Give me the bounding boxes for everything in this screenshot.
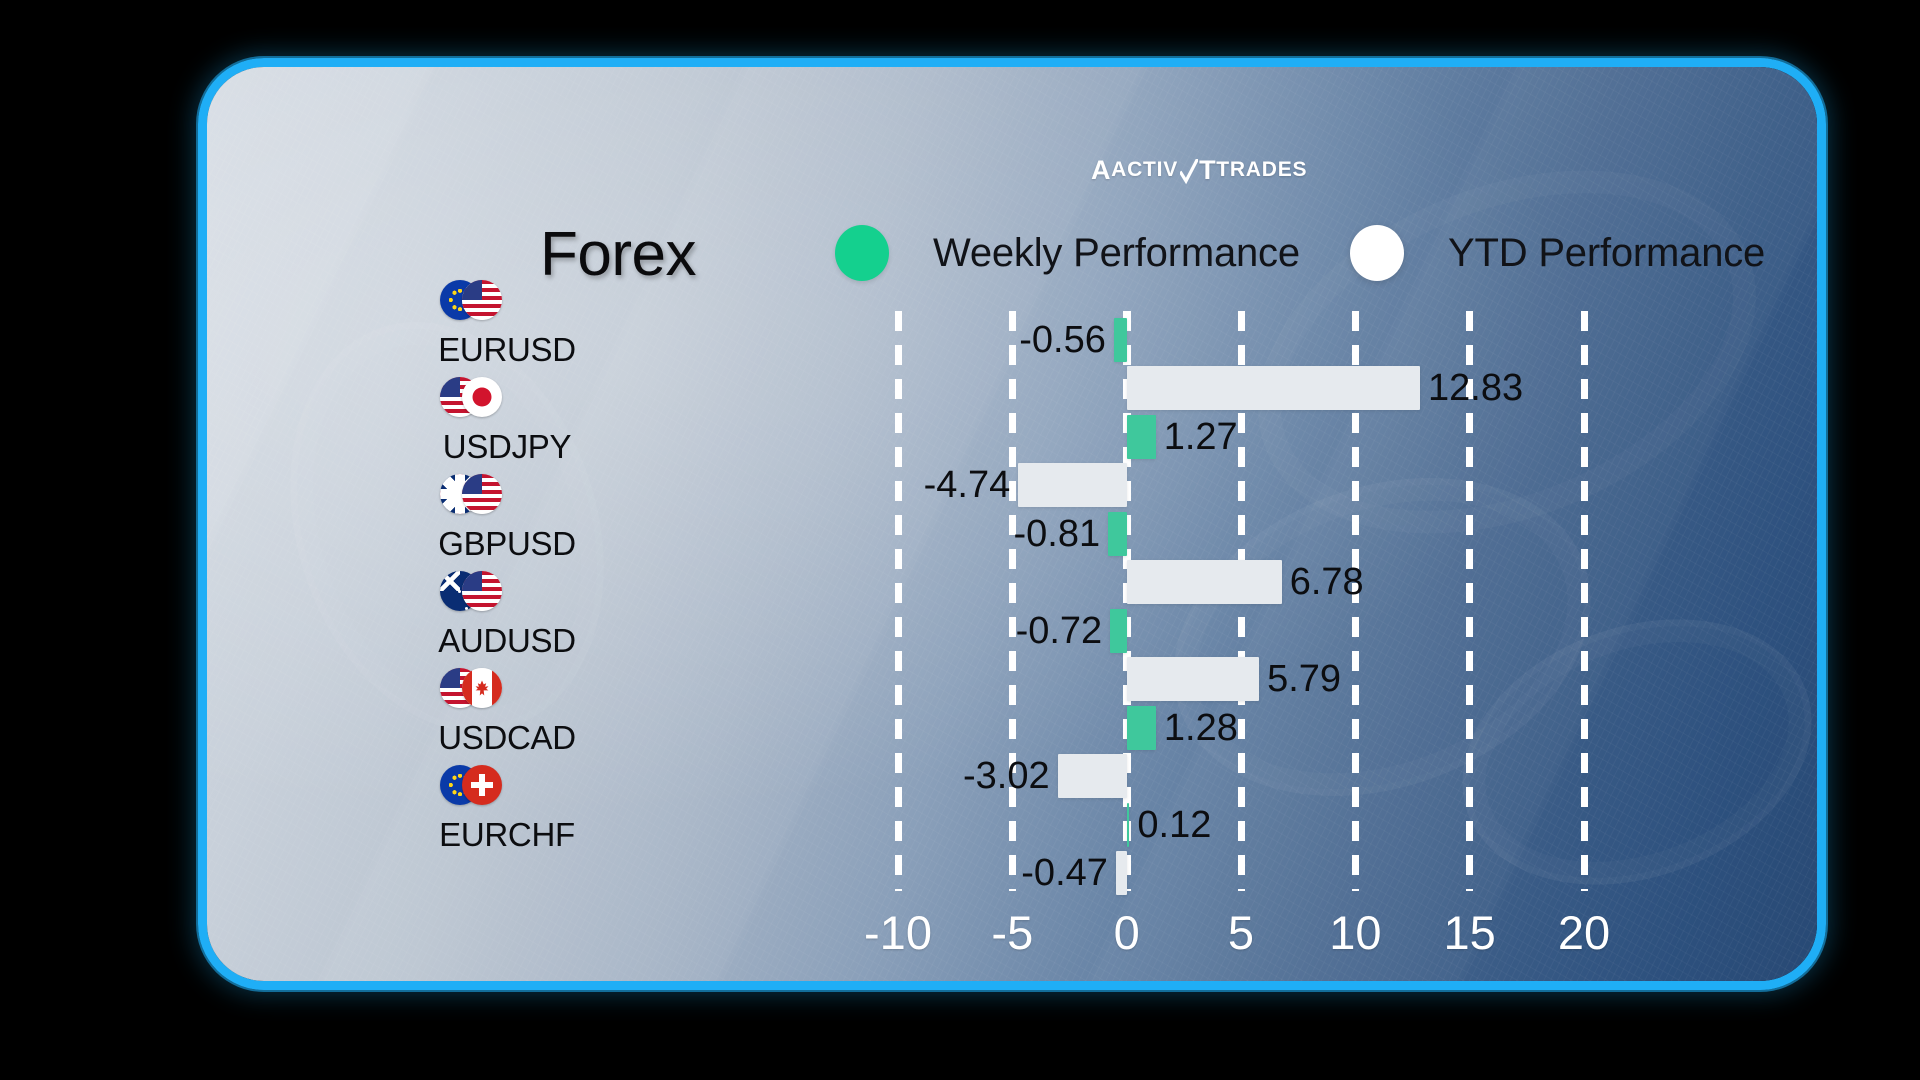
- bar-value-usdcad-weekly: 1.28: [1164, 706, 1238, 750]
- currency-flag-pair: [392, 571, 622, 615]
- currency-flag-pair: [392, 377, 622, 421]
- gridline--10: [895, 311, 902, 891]
- screenshot-root: AActiv TTrades Forex Weekly Performance …: [0, 0, 1920, 1080]
- currency-flag-pair: [392, 280, 622, 324]
- x-tick-15: 15: [1444, 905, 1496, 960]
- us-flag-icon: [462, 474, 502, 514]
- us-flag-icon: [462, 280, 502, 320]
- bar-eurusd-ytd: [1127, 366, 1420, 410]
- x-tick--10: -10: [864, 905, 932, 960]
- x-tick-5: 5: [1228, 905, 1254, 960]
- x-tick-20: 20: [1558, 905, 1610, 960]
- category-label-audusd: AUDUSD: [392, 571, 622, 660]
- bar-gbpusd-weekly: [1108, 512, 1127, 556]
- bar-eurusd-weekly: [1114, 318, 1127, 362]
- x-axis-title: % Performance: [897, 979, 1173, 990]
- gridline--5: [1009, 311, 1016, 891]
- category-label-eurusd: EURUSD: [392, 280, 622, 369]
- bar-value-eurchf-ytd: -0.47: [1021, 851, 1108, 895]
- category-label-usdcad: USDCAD: [392, 668, 622, 757]
- bar-value-eurchf-weekly: 0.12: [1137, 803, 1211, 847]
- category-name: EURUSD: [392, 331, 622, 369]
- category-label-usdjpy: USDJPY: [392, 377, 622, 466]
- category-name: USDJPY: [392, 428, 622, 466]
- bar-value-gbpusd-ytd: 6.78: [1290, 560, 1364, 604]
- bar-chart-plot: -10-505101520 EURUSDUSDJPYGBPUSDAUDUSDUS…: [207, 67, 1826, 990]
- us-flag-icon: [462, 571, 502, 611]
- x-tick-0: 0: [1114, 905, 1140, 960]
- bar-eurchf-ytd: [1116, 851, 1127, 895]
- category-label-eurchf: EURCHF: [392, 765, 622, 854]
- category-name: GBPUSD: [392, 525, 622, 563]
- bar-usdjpy-ytd: [1018, 463, 1126, 507]
- bar-audusd-weekly: [1110, 609, 1126, 653]
- category-label-gbpusd: GBPUSD: [392, 474, 622, 563]
- bar-value-gbpusd-weekly: -0.81: [1014, 512, 1101, 556]
- bar-value-eurusd-weekly: -0.56: [1019, 318, 1106, 362]
- bar-value-audusd-ytd: 5.79: [1267, 657, 1341, 701]
- jp-flag-icon: [462, 377, 502, 417]
- bar-usdcad-ytd: [1058, 754, 1127, 798]
- ch-flag-icon: [462, 765, 502, 805]
- forex-performance-card: AActiv TTrades Forex Weekly Performance …: [198, 58, 1826, 990]
- bar-gbpusd-ytd: [1127, 560, 1282, 604]
- currency-flag-pair: [392, 668, 622, 712]
- bar-usdcad-weekly: [1127, 706, 1156, 750]
- bar-eurchf-weekly: [1127, 803, 1130, 847]
- bar-usdjpy-weekly: [1127, 415, 1156, 459]
- bar-value-usdcad-ytd: -3.02: [963, 754, 1050, 798]
- bar-audusd-ytd: [1127, 657, 1259, 701]
- currency-flag-pair: [392, 474, 622, 518]
- bar-value-usdjpy-weekly: 1.27: [1164, 415, 1238, 459]
- ca-flag-icon: [462, 668, 502, 708]
- currency-flag-pair: [392, 765, 622, 809]
- x-tick-10: 10: [1329, 905, 1381, 960]
- category-name: AUDUSD: [392, 622, 622, 660]
- category-name: USDCAD: [392, 719, 622, 757]
- category-name: EURCHF: [392, 816, 622, 854]
- gridline-20: [1581, 311, 1588, 891]
- x-tick--5: -5: [991, 905, 1033, 960]
- bar-value-eurusd-ytd: 12.83: [1428, 366, 1523, 410]
- bar-value-audusd-weekly: -0.72: [1016, 609, 1103, 653]
- bar-value-usdjpy-ytd: -4.74: [924, 463, 1011, 507]
